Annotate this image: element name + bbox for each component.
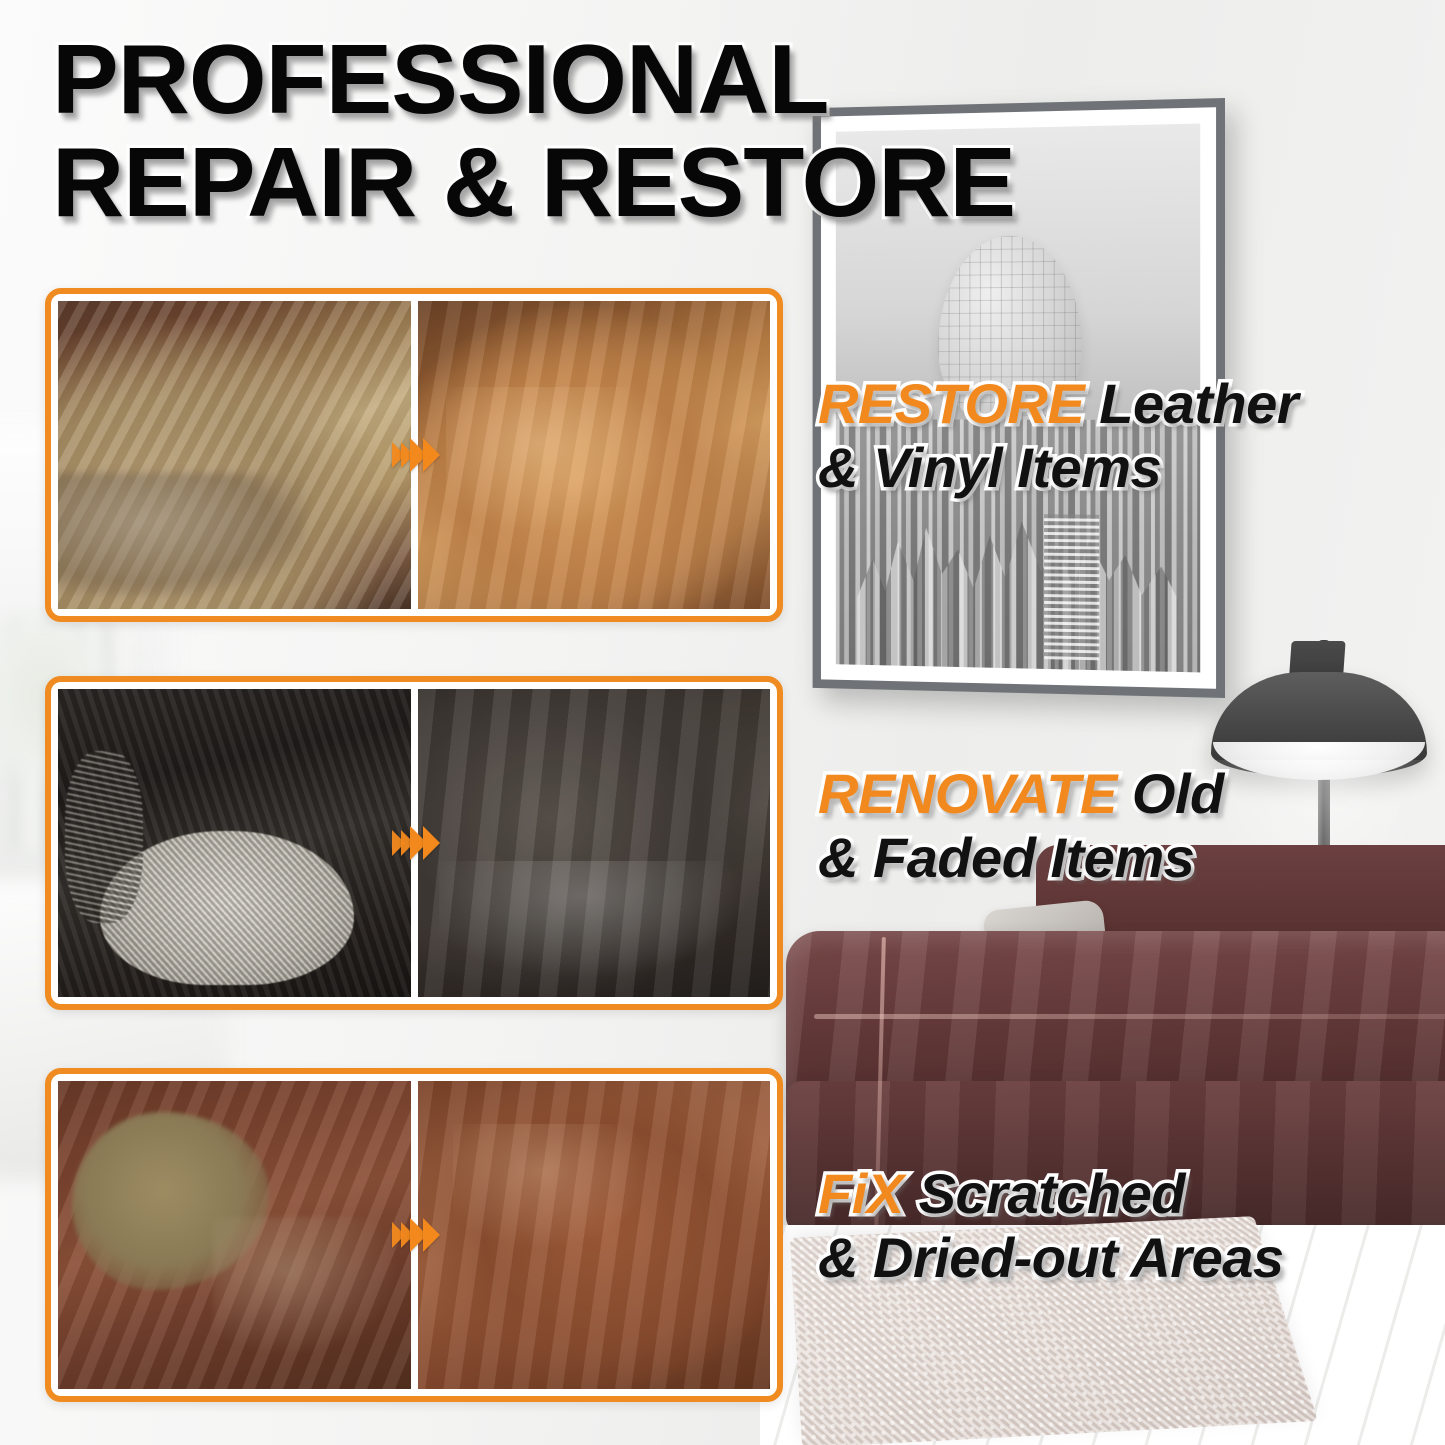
product-marketing-image: PROFESSIONAL REPAIR & RESTORE <box>0 0 1445 1445</box>
before-image-brown-armchair <box>58 1081 411 1389</box>
before-photo <box>58 1081 411 1389</box>
balloon-shape <box>938 235 1082 429</box>
before-photo <box>58 689 411 997</box>
after-image-tan-sofa <box>418 301 771 609</box>
woven-rug <box>790 1216 1318 1445</box>
after-photo <box>418 689 771 997</box>
burgundy-sofa <box>786 845 1445 1275</box>
sofa-base <box>786 1081 1445 1233</box>
before-photo <box>58 301 411 609</box>
after-photo <box>418 1081 771 1389</box>
comparison-panel-dark-leather-recliner <box>45 676 783 1010</box>
before-image-dark-recliner <box>58 689 411 997</box>
city-skyline <box>836 419 1200 672</box>
before-image-tan-sofa <box>58 301 411 609</box>
after-photo <box>418 301 771 609</box>
after-image-dark-recliner <box>418 689 771 997</box>
comparison-panel-tan-leather-sofa <box>45 288 783 622</box>
framed-artwork <box>813 98 1225 698</box>
after-image-brown-armchair <box>418 1081 771 1389</box>
comparison-panel-brown-leather-armchair <box>45 1068 783 1402</box>
artwork-mat <box>821 107 1216 689</box>
artwork-canvas <box>836 124 1200 673</box>
